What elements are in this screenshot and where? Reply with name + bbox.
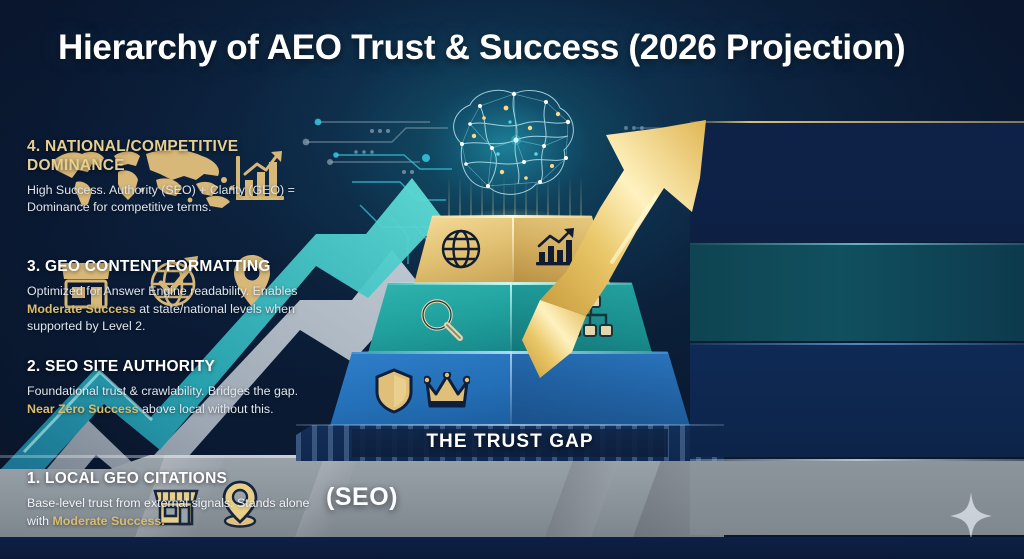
level-4-divider: [690, 121, 1024, 123]
level-4-heading: 4. NATIONAL/COMPETITIVE DOMINANCE: [27, 138, 313, 176]
level-2-highlight: Near Zero Success: [27, 402, 139, 416]
level-1-body: Base-level trust from external signals. …: [27, 495, 313, 530]
level-4-body-pre: High Success. Authority (SEO) + Clarity …: [27, 183, 295, 215]
blue-tier-ridge: [510, 352, 512, 426]
level-1-heading: 1. LOCAL GEO CITATIONS: [27, 470, 313, 489]
globe-grid-icon: [440, 228, 482, 270]
level-3-band: [690, 245, 1024, 341]
trust-gap-label: THE TRUST GAP: [296, 431, 724, 453]
level-1-highlight: Moderate Success.: [52, 514, 164, 528]
bottom-strip: [0, 537, 1024, 559]
level-4-band: [690, 122, 1024, 242]
four-point-sparkle-icon: [950, 492, 992, 540]
teal-tier-ridge: [510, 283, 512, 353]
level-2-text-block: 2. SEO SITE AUTHORITY Foundational trust…: [27, 358, 313, 418]
trust-gap-top-edge: [296, 424, 724, 426]
level-2-band: [690, 345, 1024, 457]
gold-tier-ridge: [512, 216, 514, 284]
level-2-body: Foundational trust & crawlability. Bridg…: [27, 383, 313, 418]
level-3-text-block: 3. GEO CONTENT FORMATTING Optimized for …: [27, 258, 313, 336]
level-2-body-pre: Foundational trust & crawlability. Bridg…: [27, 384, 298, 398]
level-3-heading: 3. GEO CONTENT FORMATTING: [27, 258, 313, 277]
level-bands: [690, 0, 1024, 559]
sitemap-icon: [566, 294, 614, 340]
level-3-highlight: Moderate Success: [27, 302, 136, 316]
shield-icon: [374, 368, 414, 414]
crown-icon: [424, 372, 470, 412]
infographic-canvas: THE TRUST GAP (SEO) 4. NATIONAL: [0, 0, 1024, 559]
level-2-divider: [690, 343, 1024, 345]
page-title: Hierarchy of AEO Trust & Success (2026 P…: [58, 28, 905, 68]
magnifier-icon: [418, 296, 464, 342]
level-1-text-block: 1. LOCAL GEO CITATIONS Base-level trust …: [27, 470, 313, 530]
level-4-text-block: 4. NATIONAL/COMPETITIVE DOMINANCE High S…: [27, 138, 313, 217]
level-3-divider: [690, 243, 1024, 245]
level-2-heading: 2. SEO SITE AUTHORITY: [27, 358, 313, 377]
level-4-body: High Success. Authority (SEO) + Clarity …: [27, 182, 313, 217]
level-3-body-pre: Optimized for Answer Engine readability.…: [27, 284, 297, 298]
level-3-body: Optimized for Answer Engine readability.…: [27, 283, 313, 336]
bar-chart-arrow-icon: [534, 228, 578, 270]
level-1-divider: [690, 459, 1024, 461]
level-2-body-post: above local without this.: [139, 402, 274, 416]
